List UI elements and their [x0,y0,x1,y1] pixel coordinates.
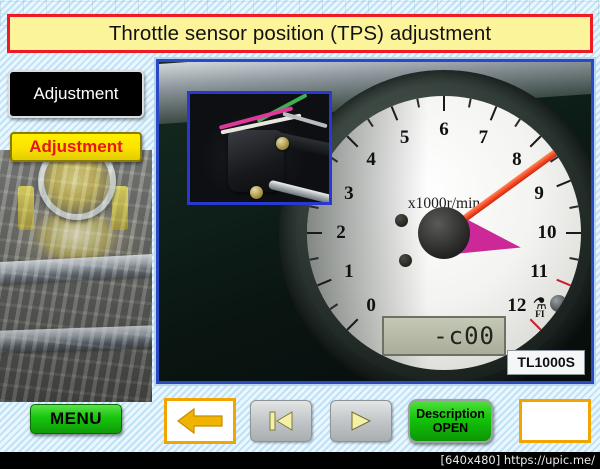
menu-button[interactable]: MENU [30,404,122,434]
tachometer-face: x1000r/min ⚗ FI -c00 0123456789101112 [307,96,581,370]
menu-button-label: MENU [50,409,102,429]
back-arrow-icon [176,406,224,436]
back-button[interactable] [164,398,236,444]
page-title-bar: Throttle sensor position (TPS) adjustmen… [7,14,593,53]
tachometer-hub [418,207,470,259]
fi-warning-lamp-icon [550,295,567,312]
next-button[interactable] [330,400,392,442]
inset-bolt [250,186,263,199]
gauge-number-1: 1 [344,261,354,283]
sidebar-engine-photo [0,150,152,402]
adjustment-button-highlight-label: Adjustment [29,137,123,157]
model-tag: TL1000S [507,350,585,375]
blank-button[interactable] [519,399,591,443]
gauge-number-7: 7 [479,127,489,149]
gauge-number-0: 0 [366,295,376,317]
description-open-button[interactable]: Description OPEN [408,399,493,443]
adjustment-button-primary[interactable]: Adjustment [8,70,144,118]
page-title: Throttle sensor position (TPS) adjustmen… [109,22,491,46]
gauge-number-3: 3 [344,183,354,205]
gauge-number-10: 10 [538,222,557,244]
gauge-number-4: 4 [366,149,376,171]
gauge-number-8: 8 [512,149,522,171]
gauge-number-9: 9 [534,183,544,205]
watermark-text: [640x480] https://upic.me/ [441,453,595,467]
fi-glyph-icon: ⚗ [533,299,547,310]
fi-label: FI [533,310,547,320]
gauge-number-5: 5 [400,127,410,149]
bottom-toolbar: MENU Description OPEN [0,396,600,448]
fi-indicator: ⚗ FI [533,299,547,320]
lcd-display: -c00 [382,316,506,356]
lcd-value: -c00 [433,324,495,348]
description-button-line1: Description [416,407,485,421]
footer-bar: [640x480] https://upic.me/ [0,452,600,469]
inset-bolt [276,137,289,150]
skip-previous-icon [268,410,294,432]
adjustment-button-highlight[interactable]: Adjustment [10,132,142,162]
gauge-number-2: 2 [336,222,346,244]
gauge-number-6: 6 [439,119,449,141]
gauge-number-12: 12 [507,295,526,317]
main-image-panel: x1000r/min ⚗ FI -c00 0123456789101112 [156,59,594,384]
inset-sensor-photo [187,91,332,205]
app-window: Throttle sensor position (TPS) adjustmen… [0,0,600,469]
dashboard-photo: x1000r/min ⚗ FI -c00 0123456789101112 [159,62,591,381]
play-next-icon [349,410,373,432]
previous-button[interactable] [250,400,312,442]
engine-shading [0,150,152,402]
description-button-line2: OPEN [433,421,468,435]
adjustment-button-primary-label: Adjustment [33,84,118,104]
gauge-number-11: 11 [530,261,548,283]
